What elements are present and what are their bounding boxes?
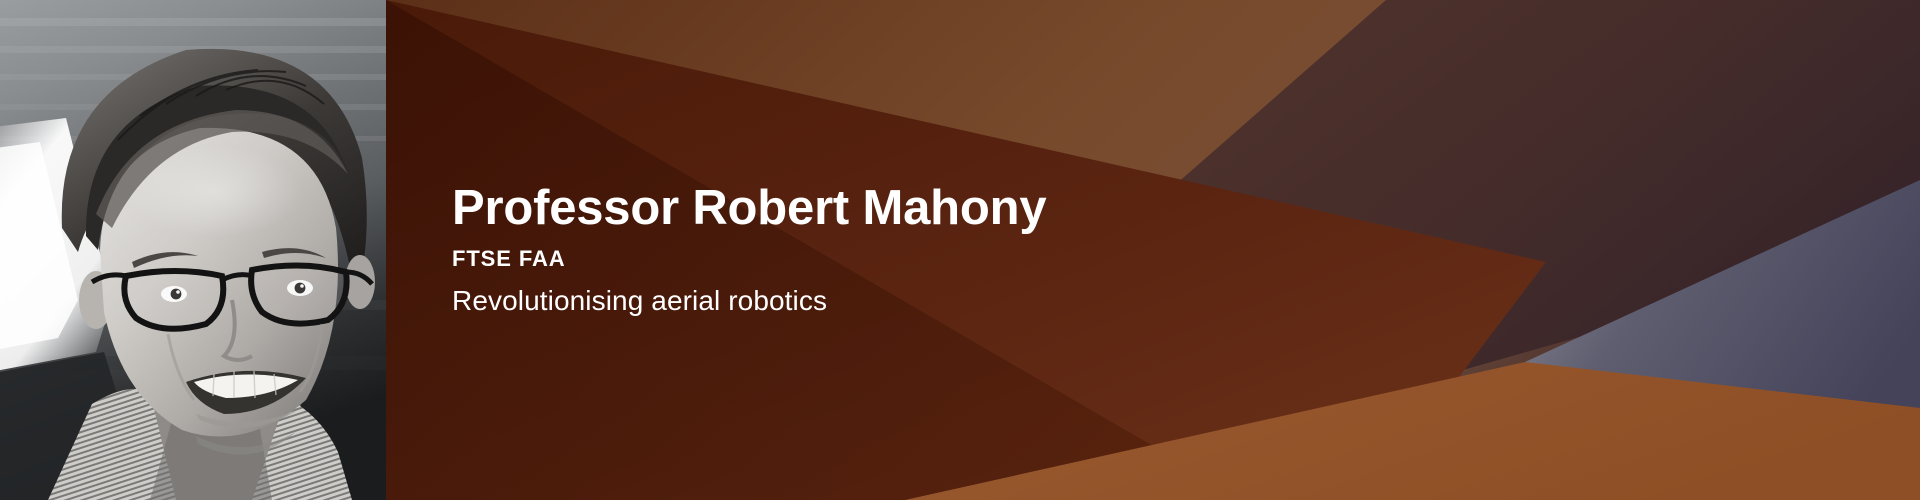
geometric-background xyxy=(386,0,1920,500)
profile-banner: Professor Robert Mahony FTSE FAA Revolut… xyxy=(0,0,1920,500)
portrait-photo xyxy=(0,0,386,500)
photo-iris-left xyxy=(171,289,182,300)
photo-iris-right xyxy=(295,283,306,294)
